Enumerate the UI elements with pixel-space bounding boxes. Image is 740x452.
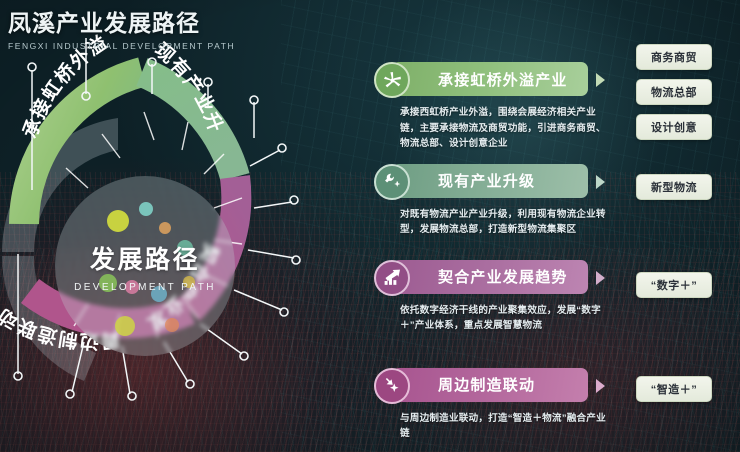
card-header[interactable]: 现有产业升级 [374, 164, 624, 200]
card-list: 承接虹桥外溢产业 承接西虹桥产业外溢，围绕会展经济相关产业链，主要承接物流及商贸… [374, 62, 624, 447]
card-description: 承接西虹桥产业外溢，围绕会展经济相关产业链，主要承接物流及商贸功能，引进商务商贸… [400, 105, 615, 152]
inbound-arrow-icon [374, 368, 410, 404]
card-title: 周边制造联动 [438, 374, 535, 395]
card-pill[interactable]: 周边制造联动 [392, 368, 588, 402]
tag-smart-manufacturing-plus[interactable]: “智造＋” [636, 376, 712, 402]
burst-icon [374, 62, 410, 98]
wrench-icon [374, 164, 410, 200]
tag-logistics-hq[interactable]: 物流总部 [636, 79, 712, 105]
page-title: 凤溪产业发展路径 FENGXI INDUSTRIAL DEVELOPMENT P… [8, 4, 235, 51]
card-pill[interactable]: 现有产业升级 [392, 164, 588, 198]
decor-dot [165, 318, 179, 332]
card-header[interactable]: 契合产业发展趋势 [374, 260, 624, 296]
card-surrounding-manufacturing-linkage[interactable]: 周边制造联动 与周边制造业联动，打造“智造＋物流”融合产业链 [374, 368, 624, 442]
center-label-chinese: 发展路径 [90, 240, 200, 276]
card-arrow-icon [596, 73, 605, 87]
card-title: 现有产业升级 [438, 170, 535, 191]
title-chinese: 凤溪产业发展路径 [8, 4, 235, 38]
center-label-english: DEVELOPMENT PATH [74, 282, 216, 293]
card-title: 契合产业发展趋势 [438, 266, 568, 287]
card-existing-industry-upgrade[interactable]: 现有产业升级 对既有物流产业产业升级，利用现有物流企业转型，发展物流总部，打造新… [374, 164, 624, 238]
decor-dot [139, 202, 153, 216]
card-accept-hongqiao-spillover[interactable]: 承接虹桥外溢产业 承接西虹桥产业外溢，围绕会展经济相关产业链，主要承接物流及商贸… [374, 62, 624, 152]
growth-arrow-icon [374, 260, 410, 296]
center-disc: 发展路径 DEVELOPMENT PATH [55, 176, 235, 356]
card-arrow-icon [596, 379, 605, 393]
card-pill[interactable]: 承接虹桥外溢产业 [392, 62, 588, 96]
card-header[interactable]: 周边制造联动 [374, 368, 624, 404]
decor-dot [159, 222, 171, 234]
card-arrow-icon [596, 271, 605, 285]
card-industry-trend-alignment[interactable]: 契合产业发展趋势 依托数字经济干线的产业聚集效应，发展“数字＋”产业体系，重点发… [374, 260, 624, 334]
decor-dot [107, 210, 129, 232]
title-english: FENGXI INDUSTRIAL DEVELOPMENT PATH [8, 41, 235, 51]
card-description: 对既有物流产业产业升级，利用现有物流企业转型，发展物流总部，打造新型物流集聚区 [400, 207, 615, 238]
card-title: 承接虹桥外溢产业 [438, 69, 568, 90]
card-description: 依托数字经济干线的产业聚集效应，发展“数字＋”产业体系，重点发展智慧物流 [400, 303, 615, 334]
card-pill[interactable]: 契合产业发展趋势 [392, 260, 588, 294]
decor-dot [115, 316, 135, 336]
tag-list: 商务商贸 物流总部 设计创意 新型物流 “数字＋” “智造＋” [636, 0, 740, 452]
card-header[interactable]: 承接虹桥外溢产业 [374, 62, 624, 98]
tag-digital-plus[interactable]: “数字＋” [636, 272, 712, 298]
tag-design-creative[interactable]: 设计创意 [636, 114, 712, 140]
card-description: 与周边制造业联动，打造“智造＋物流”融合产业链 [400, 411, 615, 442]
card-arrow-icon [596, 175, 605, 189]
tag-business-trade[interactable]: 商务商贸 [636, 44, 712, 70]
tag-new-logistics[interactable]: 新型物流 [636, 174, 712, 200]
